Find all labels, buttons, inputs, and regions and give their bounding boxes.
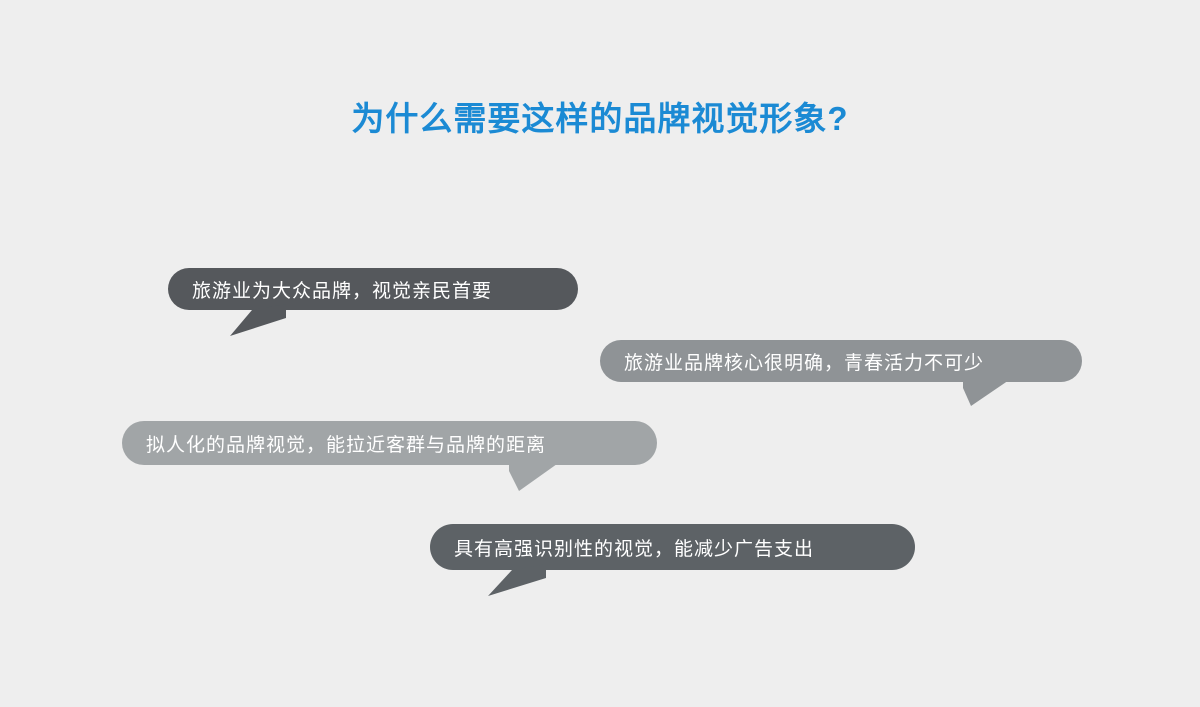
slide-canvas: 为什么需要这样的品牌视觉形象? 旅游业为大众品牌，视觉亲民首要 旅游业品牌核心很… <box>0 0 1200 707</box>
speech-bubble-4[interactable]: 具有高强识别性的视觉，能减少广告支出 <box>430 524 915 570</box>
speech-bubble-2-tail <box>963 376 1015 406</box>
speech-bubble-3-label: 拟人化的品牌视觉，能拉近客群与品牌的距离 <box>122 430 570 457</box>
speech-bubble-4-tail <box>488 564 546 596</box>
page-title: 为什么需要这样的品牌视觉形象? <box>0 92 1200 140</box>
speech-bubble-1[interactable]: 旅游业为大众品牌，视觉亲民首要 <box>168 268 578 310</box>
speech-bubble-3-tail <box>509 459 564 491</box>
speech-bubble-3[interactable]: 拟人化的品牌视觉，能拉近客群与品牌的距离 <box>122 421 657 465</box>
speech-bubble-1-tail <box>230 304 286 336</box>
speech-bubble-4-label: 具有高强识别性的视觉，能减少广告支出 <box>430 534 838 561</box>
speech-bubble-2[interactable]: 旅游业品牌核心很明确，青春活力不可少 <box>600 340 1082 382</box>
speech-bubble-2-label: 旅游业品牌核心很明确，青春活力不可少 <box>600 348 1008 375</box>
speech-bubble-1-label: 旅游业为大众品牌，视觉亲民首要 <box>168 276 516 303</box>
